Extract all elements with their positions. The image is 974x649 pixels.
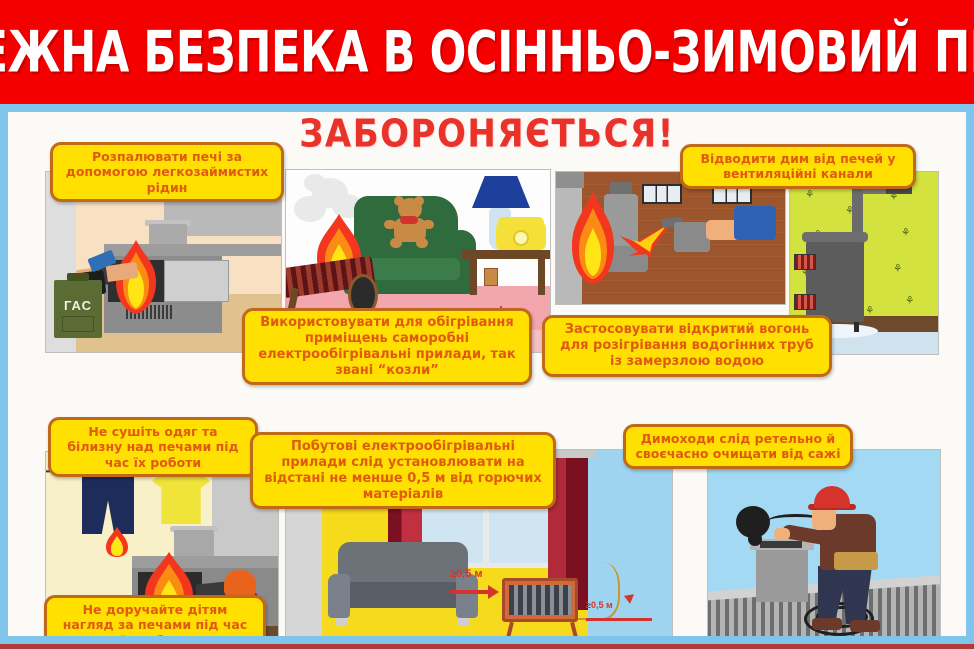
riser-cap: [556, 172, 584, 188]
heater-power-cord: [578, 562, 620, 620]
stove-top-plate: [802, 232, 868, 242]
distance-label-left: ≥0,5 м: [450, 568, 483, 580]
side-table-leg: [538, 259, 545, 295]
distance-label-right: ≥0,5 м: [586, 600, 613, 610]
canister-label: ГАС: [54, 298, 102, 313]
heater-grill: [509, 585, 571, 615]
callout-chimney-cleaning: Димоходи слід ретельно й своєчасно очища…: [623, 424, 853, 469]
teddy-bear: [386, 198, 432, 246]
canister-cap: [67, 273, 89, 281]
chimney: [756, 546, 808, 602]
flame-icon: [562, 190, 624, 286]
distance-arrow-left-line: [450, 590, 490, 594]
poster-content-area: ЗАБОРОНЯЄТЬСЯ!: [8, 112, 966, 636]
title-banner: ПОЖЕЖНА БЕЗПЕКА В ОСІННЬО-ЗИМОВИЙ ПЕРІОД: [0, 0, 974, 104]
stove-door: [164, 260, 229, 302]
shirt-sleeve: [734, 206, 776, 240]
distance-arrow-right-line: [586, 618, 652, 621]
stove-lower-door: [794, 294, 816, 310]
side-table-top: [462, 250, 550, 259]
tool-belt: [834, 552, 878, 570]
poster-frame: ЗАБОРОНЯЄТЬСЯ!: [0, 104, 974, 649]
child-hair: [224, 570, 256, 598]
distance-arrow-left-head: [488, 585, 499, 599]
callout-children-supervision: Не доручайте дітям нагляд за печами під …: [44, 595, 266, 636]
fire-safety-poster: ПОЖЕЖНА БЕЗПЕКА В ОСІННЬО-ЗИМОВИЙ ПЕРІОД…: [0, 0, 974, 649]
stove-upper-door: [794, 254, 816, 270]
panel-blowtorch-pipes: [556, 172, 785, 304]
worker-boot: [850, 620, 880, 632]
sofa-foot: [336, 618, 348, 626]
telephone: [496, 222, 546, 250]
callout-heater-distance: Побутові електрообігрівальні прилади слі…: [250, 432, 556, 509]
fuel-canister: ГАС: [54, 280, 102, 338]
blowtorch: [674, 222, 710, 252]
worker-boot: [812, 618, 842, 630]
callout-open-flame: Застосовувати відкритий вогонь для розіг…: [542, 315, 832, 377]
callout-homemade-heaters: Використовувати для обігрівання приміщен…: [242, 308, 532, 385]
sofa-seat: [334, 582, 474, 608]
basement-window: [642, 184, 682, 204]
sofa-foot: [458, 618, 470, 626]
flame-icon: [100, 526, 134, 558]
chimney-flue-opening: [760, 541, 802, 548]
panel-chimney-sweep: [708, 450, 940, 636]
callout-kerosene: Розпалювати печі за допомогою легкозайми…: [50, 142, 284, 202]
wall-outlet: [484, 268, 498, 286]
canister-emboss: [62, 316, 94, 332]
side-table-leg: [470, 259, 477, 295]
phone-receiver: [498, 217, 544, 227]
chimney-brush-weight: [748, 532, 762, 546]
callout-ventilation: Відводити дим від печей у вентиляційні к…: [680, 144, 916, 189]
worker-hand: [774, 528, 790, 540]
sofa: [328, 542, 478, 628]
sofa-arm-left: [328, 574, 350, 618]
poster-title: ПОЖЕЖНА БЕЗПЕКА В ОСІННЬО-ЗИМОВИЙ ПЕРІОД: [0, 18, 974, 85]
sofa-arm-right: [456, 574, 478, 618]
callout-drying-clothes: Не сушіть одяг та білизну над печами під…: [48, 417, 258, 477]
phone-dial: [513, 230, 529, 246]
electric-heater: [502, 578, 578, 622]
